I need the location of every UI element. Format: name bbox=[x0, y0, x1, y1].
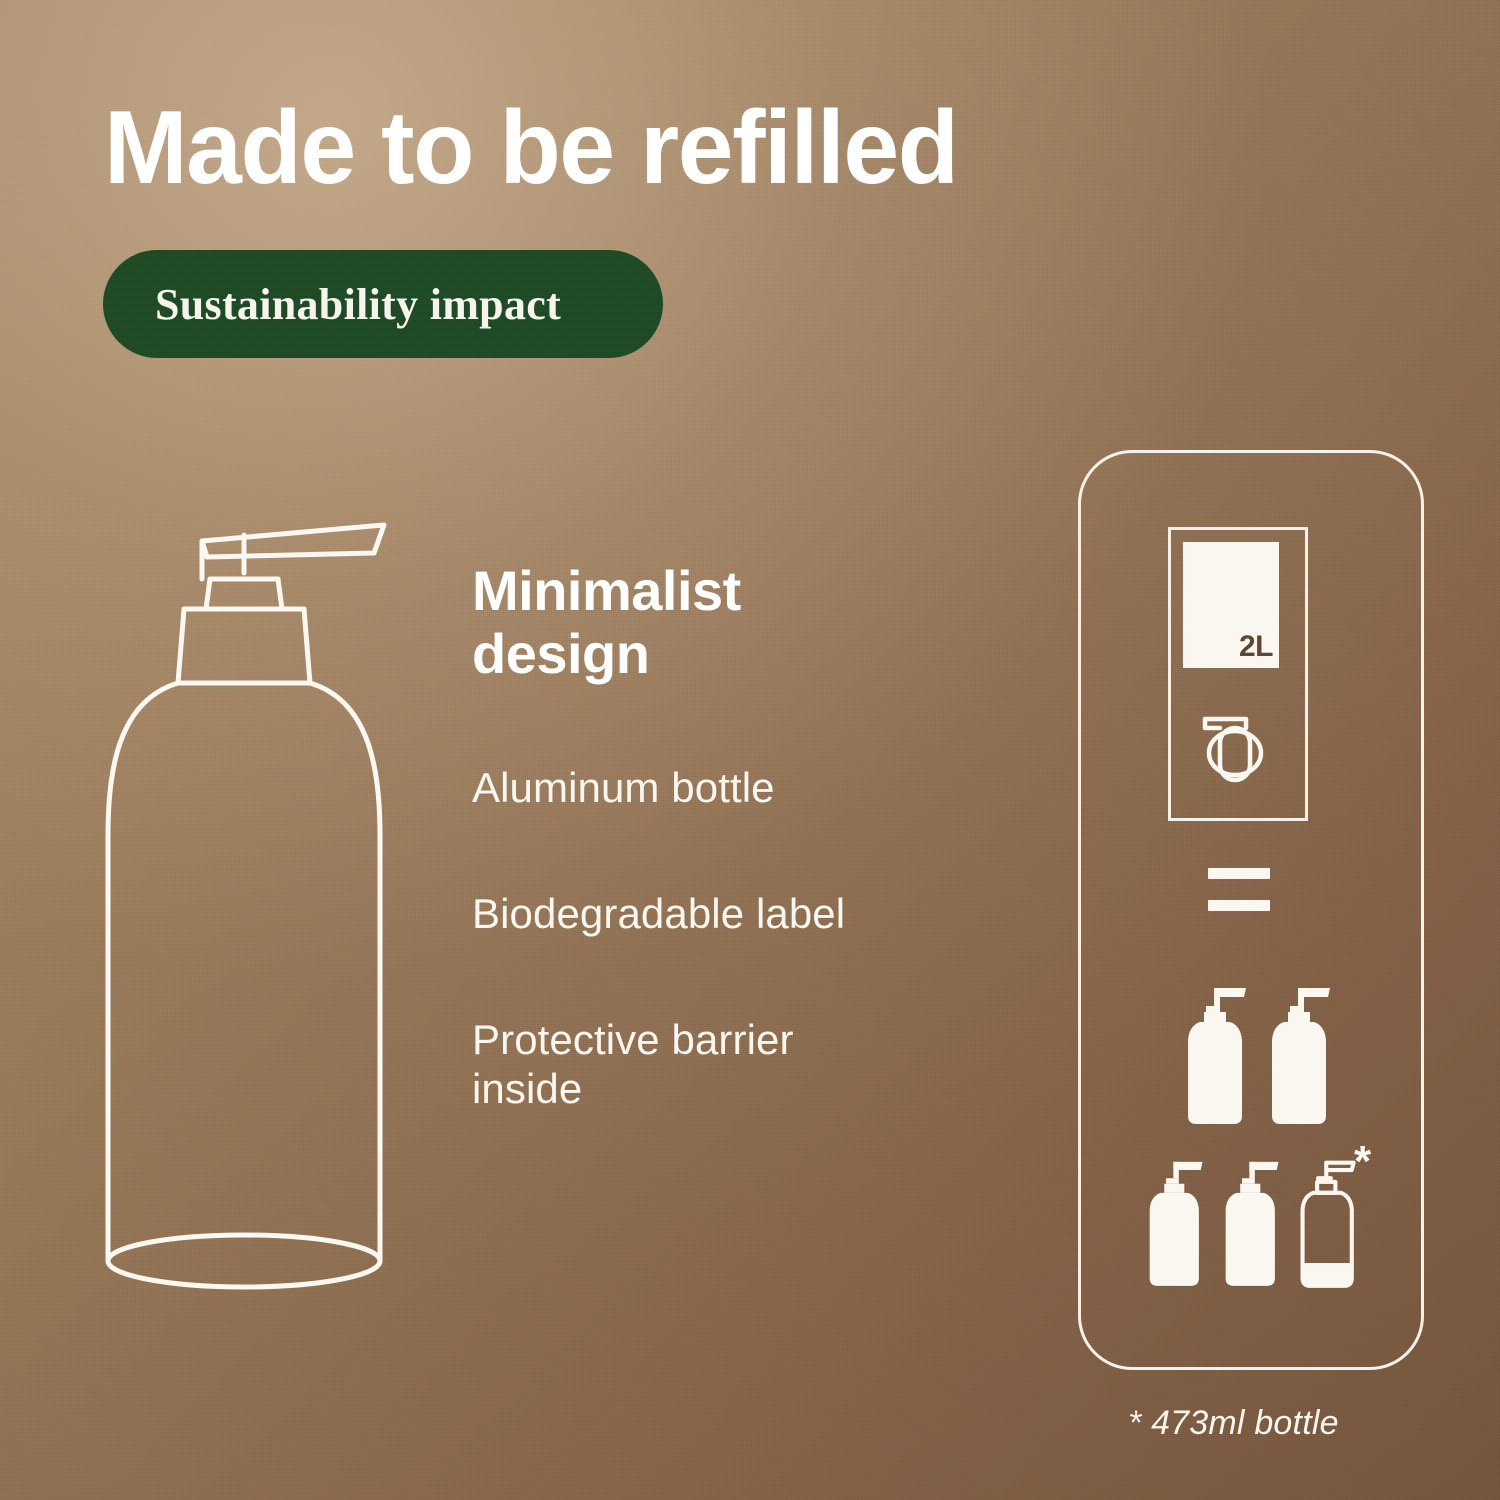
feature-list: Minimalist design Aluminum bottle Biodeg… bbox=[472, 560, 892, 1114]
feature-item-aluminum-bottle: Aluminum bottle bbox=[472, 763, 892, 813]
equals-bar-bottom bbox=[1208, 900, 1270, 911]
page-title: Made to be refilled bbox=[104, 96, 1262, 200]
equals-symbol bbox=[1208, 868, 1270, 911]
asterisk-marker: * bbox=[1354, 1140, 1371, 1184]
bottle-row-top bbox=[1184, 980, 1336, 1128]
refill-box-icon: 2L bbox=[1168, 527, 1308, 821]
pump-bottle-icon bbox=[1184, 980, 1252, 1128]
feature-list-title: Minimalist design bbox=[472, 560, 892, 685]
pump-bottle-icon bbox=[1222, 1152, 1284, 1292]
refill-volume-value: 2L bbox=[1239, 632, 1273, 662]
product-infographic: Made to be refilled Sustainability impac… bbox=[0, 0, 1500, 1500]
spigot-tap-icon bbox=[1199, 708, 1271, 784]
footnote: * 473ml bottle bbox=[1128, 1404, 1339, 1443]
pump-bottle-illustration bbox=[92, 505, 472, 1335]
refill-volume-label: 2L bbox=[1183, 542, 1279, 668]
status-badge: Sustainability impact bbox=[103, 250, 663, 358]
pump-bottle-icon bbox=[1268, 980, 1336, 1128]
pump-bottle-partial-icon bbox=[1298, 1152, 1360, 1292]
equals-bar-top bbox=[1208, 868, 1270, 879]
feature-item-biodegradable-label: Biodegradable label bbox=[472, 889, 892, 939]
pump-bottle-icon bbox=[1146, 1152, 1208, 1292]
bottle-row-bottom bbox=[1146, 1152, 1360, 1292]
status-badge-label: Sustainability impact bbox=[155, 279, 561, 330]
feature-item-protective-barrier: Protective barrier inside bbox=[472, 1015, 892, 1114]
